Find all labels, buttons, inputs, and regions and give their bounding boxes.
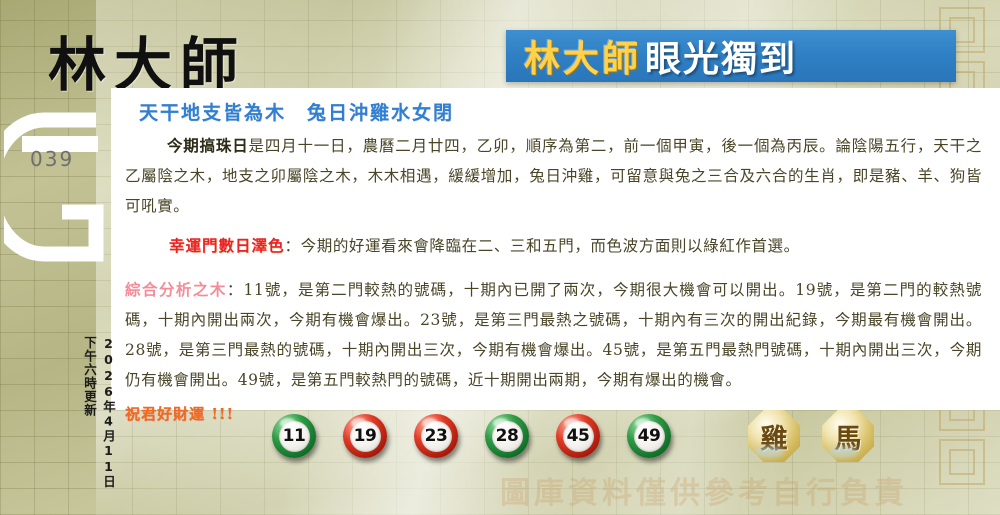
lottery-ball[interactable]: 11 bbox=[272, 414, 316, 458]
analysis-paragraph: 綜合分析之木：11號，是第二門較熱的號碼，十期內已開了兩次，今期很大機會可以開出… bbox=[125, 275, 982, 395]
zodiac-label: 馬 bbox=[835, 417, 862, 456]
header-banner: 林大師 眼光獨到 bbox=[506, 30, 956, 82]
ball-number: 49 bbox=[638, 426, 661, 446]
paragraph-main-text: 是四月十一日，農曆二月廿四，乙卯，順序為第二，前一個甲寅，後一個為丙辰。論陰陽五… bbox=[125, 137, 982, 215]
article-panel: 天干地支皆為木 兔日沖雞水女閉 今期搞珠日是四月十一日，農曆二月廿四，乙卯，順序… bbox=[111, 88, 1000, 410]
update-timestamp: 2026年4月11日 下午六時更新 bbox=[80, 336, 118, 506]
lottery-ball[interactable]: 23 bbox=[414, 414, 458, 458]
bottom-watermark: 圖庫資料僅供參考自行負責 bbox=[500, 468, 970, 512]
lottery-ball-row: 11 19 23 28 45 49 bbox=[272, 414, 671, 458]
ball-number: 45 bbox=[567, 426, 590, 446]
lottery-ball[interactable]: 28 bbox=[485, 414, 529, 458]
lottery-ball[interactable]: 45 bbox=[556, 414, 600, 458]
ball-number: 11 bbox=[283, 426, 306, 446]
lottery-ball[interactable]: 49 bbox=[627, 414, 671, 458]
ball-number: 23 bbox=[425, 426, 448, 446]
banner-brand-text: 林大師 bbox=[524, 30, 641, 82]
analysis-text: ：11號，是第二門較熱的號碼，十期內已開了兩次，今期很大機會可以開出。19號，是… bbox=[125, 281, 982, 389]
lucky-numbers-line: 幸運門數日澤色：今期的好運看來會降臨在二、三和五門，而色波方面則以綠紅作首選。 bbox=[125, 231, 982, 261]
zodiac-tile[interactable]: 馬 bbox=[822, 410, 874, 462]
poster-canvas: 039 林大師 林大師 眼光獨到 天干地支皆為木 兔日沖雞水女閉 今期搞珠日是四… bbox=[0, 0, 1000, 515]
analysis-label: 綜合分析之木 bbox=[125, 280, 227, 299]
article-paragraph-main: 今期搞珠日是四月十一日，農曆二月廿四，乙卯，順序為第二，前一個甲寅，後一個為丙辰… bbox=[125, 131, 982, 221]
lucky-label: 幸運門數日澤色 bbox=[169, 236, 285, 255]
lucky-text: ：今期的好運看來會降臨在二、三和五門，而色波方面則以綠紅作首選。 bbox=[285, 237, 800, 255]
zodiac-tile-row: 雞 馬 bbox=[748, 410, 874, 462]
zodiac-tile[interactable]: 雞 bbox=[748, 410, 800, 462]
zodiac-label: 雞 bbox=[761, 417, 788, 456]
ball-number: 19 bbox=[354, 426, 377, 446]
banner-slogan-text: 眼光獨到 bbox=[645, 30, 797, 82]
paragraph-lead-label: 今期搞珠日 bbox=[167, 136, 249, 155]
lottery-ball[interactable]: 19 bbox=[343, 414, 387, 458]
article-headline: 天干地支皆為木 兔日沖雞水女閉 bbox=[139, 98, 982, 125]
ball-number: 28 bbox=[496, 426, 519, 446]
